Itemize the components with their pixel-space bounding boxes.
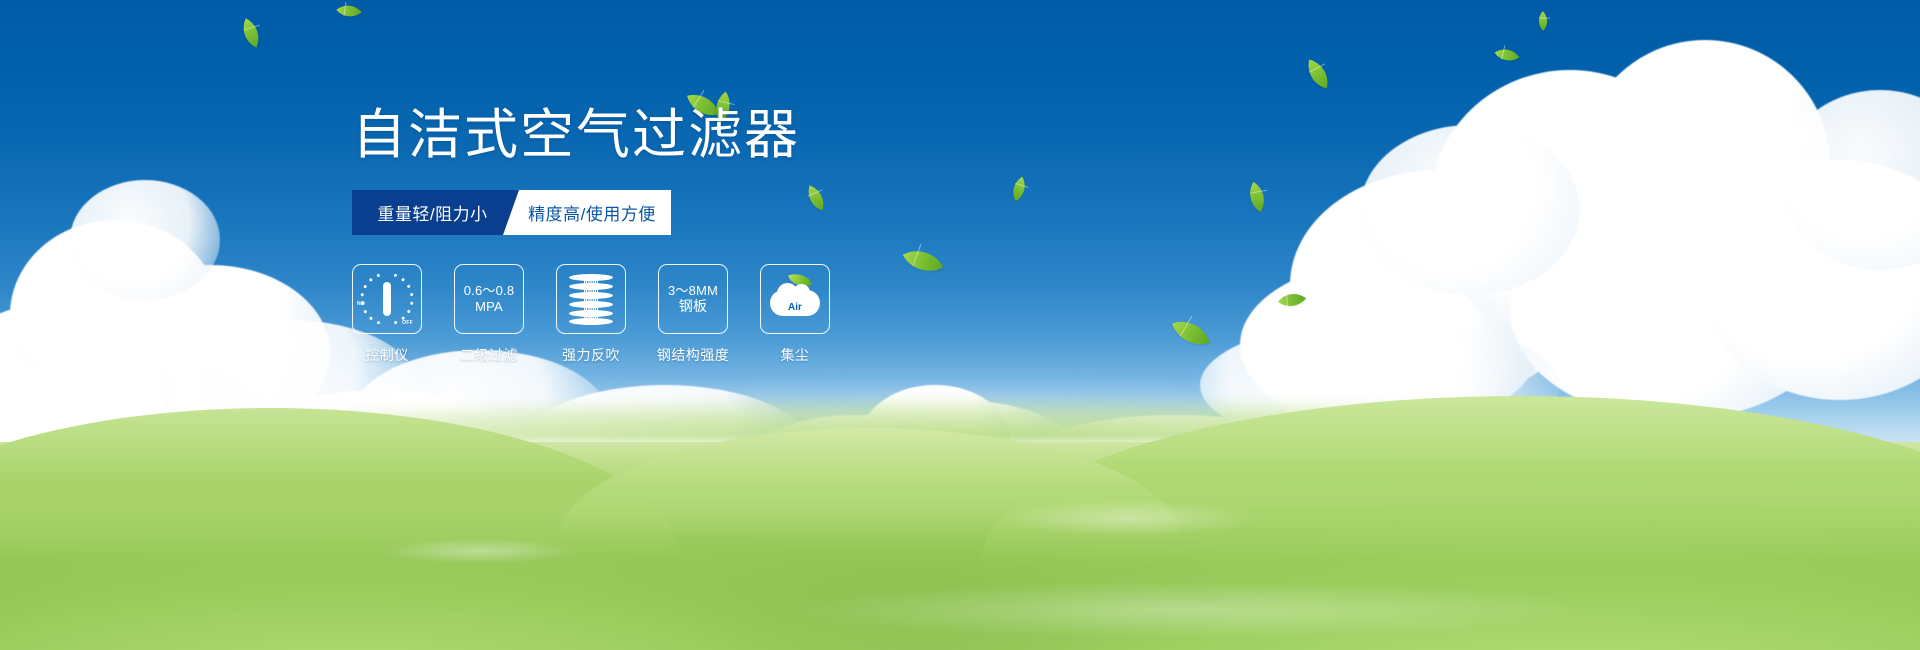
- steel-thickness: 3～8MM: [668, 283, 718, 299]
- feature-caption: 控制仪: [365, 345, 409, 365]
- tab-lightweight-low-resistance[interactable]: 重量轻/阻力小: [352, 190, 519, 235]
- feature-icon-box: Air: [760, 264, 830, 334]
- feature-item-steel-strength[interactable]: 3～8MM 钢板 钢结构强度: [658, 264, 728, 365]
- feature-item-two-stage-filter[interactable]: 0.6～0.8 MPA 二级过滤: [454, 264, 524, 365]
- page-title: 自洁式空气过滤器: [352, 108, 972, 162]
- feature-caption: 集尘: [781, 345, 810, 365]
- dial-icon: NO OFF: [359, 271, 415, 327]
- grass-highlight: [380, 538, 580, 564]
- grass-field: [0, 442, 1920, 650]
- dial-label-off: OFF: [402, 320, 413, 326]
- feature-icon-box: NO OFF: [352, 264, 422, 334]
- pressure-value: 0.6～0.8: [464, 283, 515, 299]
- banner-content: 自洁式空气过滤器 重量轻/阻力小 精度高/使用方便: [352, 108, 972, 365]
- steel-plate-icon: 3～8MM 钢板: [668, 283, 718, 316]
- feature-icon-box: 0.6～0.8 MPA: [454, 264, 524, 334]
- feature-icon-box: [556, 264, 626, 334]
- dial-needle: [383, 282, 391, 316]
- dial-label-no: NO: [357, 301, 365, 307]
- feature-caption: 强力反吹: [562, 345, 620, 365]
- air-label: Air: [770, 302, 820, 313]
- tab-high-precision-easy-use[interactable]: 精度高/使用方便: [503, 190, 671, 235]
- feature-item-dust-collection[interactable]: Air 集尘: [760, 264, 830, 365]
- air-cloud-icon: Air: [770, 278, 820, 320]
- tab-list: 重量轻/阻力小 精度高/使用方便: [352, 190, 671, 235]
- grass-highlight: [1000, 500, 1260, 536]
- feature-caption: 二级过滤: [460, 345, 518, 365]
- steel-material: 钢板: [668, 298, 718, 315]
- filter-coil-icon: [568, 274, 614, 324]
- pressure-unit: MPA: [464, 299, 515, 315]
- feature-icon-box: 3～8MM 钢板: [658, 264, 728, 334]
- feature-list: NO OFF 控制仪 0.6～0.8 MPA 二级过滤: [352, 264, 972, 365]
- feature-item-controller[interactable]: NO OFF 控制仪: [352, 264, 422, 365]
- feature-item-strong-blowback[interactable]: 强力反吹: [556, 264, 626, 365]
- banner-stage: 自洁式空气过滤器 重量轻/阻力小 精度高/使用方便: [0, 0, 1920, 650]
- feature-caption: 钢结构强度: [657, 345, 730, 365]
- grass-sheen: [0, 583, 1920, 650]
- pressure-icon: 0.6～0.8 MPA: [464, 283, 515, 315]
